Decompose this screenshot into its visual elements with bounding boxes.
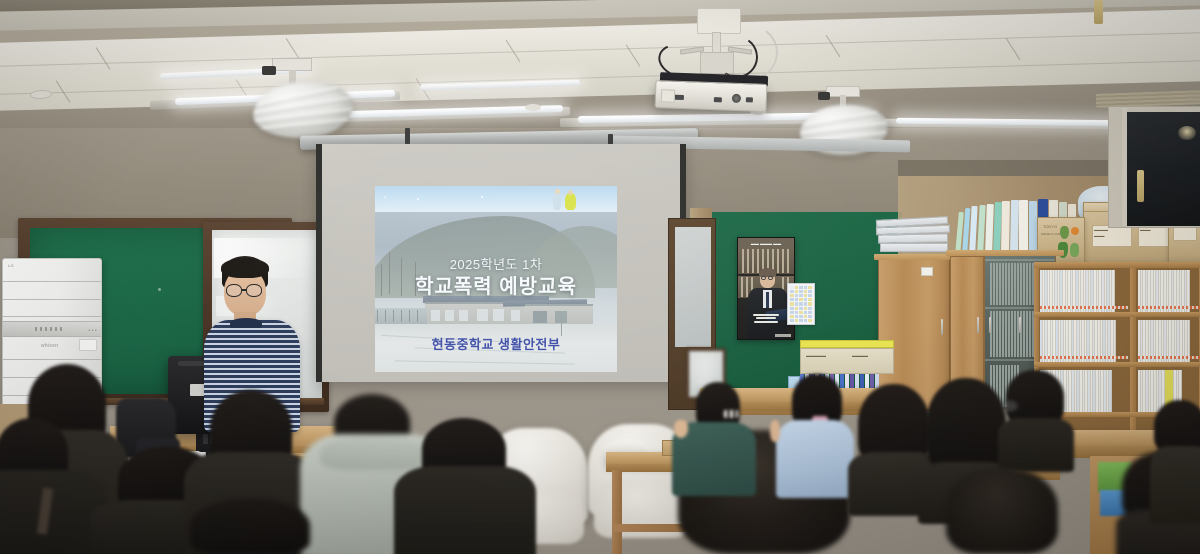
chalkboard-mark (158, 288, 161, 291)
wall-chart-cells (790, 286, 812, 322)
shelf-book-box-yellow (800, 340, 894, 348)
shelf-book-box-text-1: ▬▬▬▬▬ (806, 353, 826, 358)
poster-handwritten-message (738, 312, 794, 324)
box-illustration-orange (1071, 227, 1079, 235)
student-front-lowest (170, 498, 330, 554)
exterior-gold-post-top (1094, 0, 1103, 24)
poster-header-text: ▬▬ ▬▬▬ ▬▬ (738, 241, 794, 247)
strip-figure-head (555, 189, 560, 194)
exterior-gold-post (1137, 170, 1144, 202)
student-hair (926, 378, 1006, 474)
door-glass-panel (675, 227, 711, 347)
bookcase-row-2-left-labels (1040, 356, 1128, 359)
aircon-panel-text: ● ● ● (88, 328, 97, 332)
presenter-glasses-bridge (241, 289, 247, 291)
aircon-button-row[interactable] (35, 327, 62, 331)
cabinet-label-sticker (921, 267, 933, 276)
student-front-left-1 (0, 418, 96, 554)
student-pointing-finger (770, 420, 780, 442)
student-uniform-blazer (1150, 446, 1200, 524)
box-illustration-veg (1060, 226, 1069, 239)
cabinet-handle-1[interactable] (941, 319, 943, 335)
slide-pole (561, 312, 562, 336)
student-uniform-blazer (998, 418, 1074, 472)
table-leg-1 (612, 470, 622, 554)
slide-top-strip: ✕ (375, 186, 617, 212)
shelf-book-box-label (800, 348, 894, 374)
slide-strip-sparkle: ✕ (383, 195, 387, 201)
slide-strip-sparkle-2 (417, 198, 419, 200)
cabinet-handle-2[interactable] (977, 317, 979, 333)
slide-main-title: 학교폭력 예방교육 (375, 270, 617, 299)
student-hand-raised (674, 420, 688, 438)
window-exterior-light (1178, 126, 1196, 140)
strip-figure-right (565, 193, 576, 210)
student-right-bottom (936, 468, 1066, 554)
presenter-glasses-left-lens (226, 284, 242, 297)
strip-figure-head-2 (568, 190, 573, 195)
leaning-file-8 (1010, 200, 1019, 256)
ceiling-clamp-2 (818, 92, 830, 100)
window-mullion-vertical (1122, 108, 1127, 226)
stacked-papers-left-4 (880, 243, 948, 252)
projector-body (655, 80, 768, 112)
shelf-book-box-text-2: ▬▬▬▬ (852, 353, 868, 358)
box-illustration-leaf (1070, 243, 1079, 257)
cabinet-handle-3[interactable] (989, 317, 991, 333)
student-uniform-blazer (394, 466, 536, 554)
cabinet-top-surface (874, 254, 954, 260)
slide-fence-posts (377, 310, 425, 322)
student-right-glasses (1000, 370, 1070, 466)
bookcase-row-2-right-labels (1138, 356, 1200, 359)
screen-left-edge (316, 144, 322, 382)
classroom-presentation-scene: LG ● ● ● whisen ✕ (0, 0, 1200, 554)
student-hair (190, 498, 310, 554)
leaning-file-9 (1019, 200, 1028, 256)
poster-man-glasses-right (768, 276, 773, 280)
ceiling-sensor-2 (525, 104, 541, 111)
presenter-glasses-right-lens (246, 284, 262, 297)
leaning-file-10 (1029, 201, 1037, 256)
poster-man-glasses-left (761, 276, 766, 280)
student-hair-clip (724, 410, 738, 418)
cabinet-top-surface-2 (946, 250, 1064, 256)
student-hair (946, 468, 1058, 554)
slide-strip-sparkle-3 (481, 196, 483, 198)
presenter-hair-front (221, 258, 269, 278)
student-blue-shirt (776, 374, 854, 496)
strip-figure-left (553, 192, 561, 210)
student-light-blue-shirt (776, 420, 854, 498)
bookcase-row-1-right-labels (1138, 306, 1200, 309)
student-right-edge-blazer (1150, 400, 1200, 520)
projected-slide: ✕ (375, 186, 617, 372)
leaning-file-7 (1001, 201, 1010, 256)
bookcase-row-1-left-labels (1040, 306, 1128, 309)
student-glasses (1002, 400, 1018, 412)
presenter-collar (230, 318, 262, 328)
student-front-center (400, 418, 530, 554)
aircon-brand-label: LG (8, 263, 14, 268)
aircon-model-label: whisen (41, 343, 58, 349)
cabinet-handle-4[interactable] (1019, 317, 1021, 333)
aircon-energy-badge (79, 339, 97, 351)
slide-building-right (525, 304, 593, 326)
slide-footer-text: 현동중학교 생활안전부 (375, 334, 617, 353)
screen-bracket-left (405, 128, 410, 144)
poster-man-tie (766, 292, 769, 308)
ceiling-clamp-1 (262, 66, 276, 75)
wall-chart (787, 283, 815, 325)
poster-bottom-logo (775, 334, 791, 337)
student-green-sweater (672, 382, 756, 492)
